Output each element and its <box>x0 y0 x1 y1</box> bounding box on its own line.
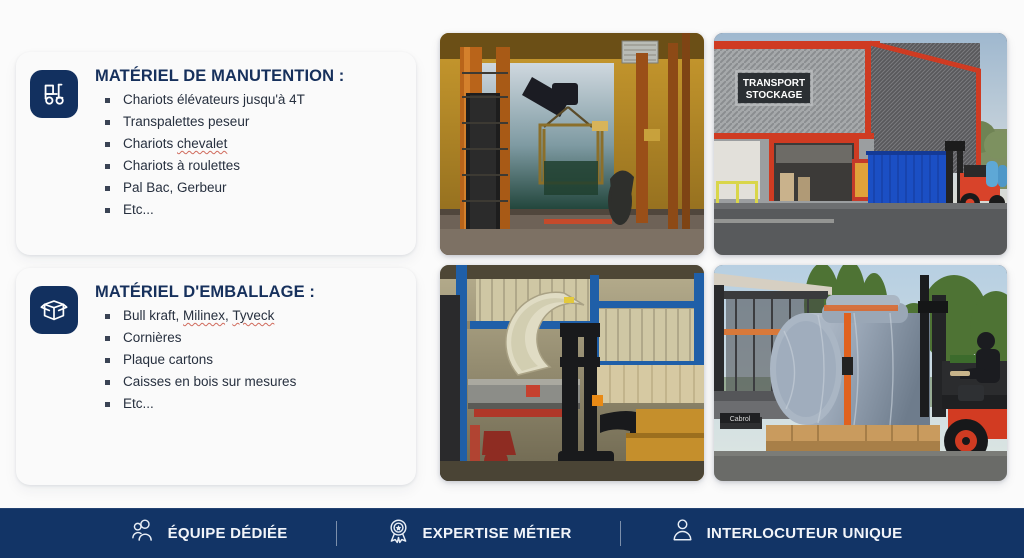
list-item: Plaque cartons <box>95 349 400 371</box>
feature-interlocuteur-unique[interactable]: INTERLOCUTEUR UNIQUE <box>669 517 903 549</box>
sign-line-1: TRANSPORT <box>743 78 805 89</box>
card-body: MATÉRIEL D'EMBALLAGE : Bull kraft, Milin… <box>95 282 400 415</box>
card-title: MATÉRIEL DE MANUTENTION : <box>95 67 400 86</box>
feature-label: EXPERTISE MÉTIER <box>423 525 572 542</box>
card-materiel-emballage: MATÉRIEL D'EMBALLAGE : Bull kraft, Milin… <box>16 268 416 485</box>
bar-divider <box>620 521 621 546</box>
award-medal-icon <box>385 517 412 549</box>
team-people-icon <box>130 517 157 549</box>
list-item: Pal Bac, Gerbeur <box>95 177 400 199</box>
open-box-icon <box>30 286 78 334</box>
list-item: Chariots chevalet <box>95 133 400 155</box>
list-item: Etc... <box>95 199 400 221</box>
bar-divider <box>336 521 337 546</box>
list-item: Etc... <box>95 393 400 415</box>
photo-entrepot-rayonnage <box>440 265 704 481</box>
feature-label: ÉQUIPE DÉDIÉE <box>168 525 288 542</box>
single-person-icon <box>669 517 696 549</box>
sign-line-2: STOCKAGE <box>746 90 803 101</box>
photo-manutention-vitrage <box>440 33 704 255</box>
list-item: Cornières <box>95 327 400 349</box>
list-item: Bull kraft, Milinex, Tyveck <box>95 305 400 327</box>
feature-label: INTERLOCUTEUR UNIQUE <box>707 525 903 542</box>
list-item: Transpalettes peseur <box>95 111 400 133</box>
svg-text:Cabrol: Cabrol <box>730 416 751 423</box>
bullet-list: Bull kraft, Milinex, Tyveck Cornières Pl… <box>95 305 400 415</box>
card-materiel-manutention: MATÉRIEL DE MANUTENTION : Chariots éléva… <box>16 52 416 255</box>
bullet-list: Chariots élévateurs jusqu'à 4T Transpale… <box>95 89 400 221</box>
list-item: Caisses en bois sur mesures <box>95 371 400 393</box>
card-inner: MATÉRIEL D'EMBALLAGE : Bull kraft, Milin… <box>16 268 416 415</box>
forklift-icon <box>30 70 78 118</box>
card-inner: MATÉRIEL DE MANUTENTION : Chariots éléva… <box>16 52 416 221</box>
bottom-feature-bar: ÉQUIPE DÉDIÉE EXPERTISE MÉTIER <box>0 508 1024 558</box>
photo-entrepot-transport-stockage: TRANSPORT STOCKAGE <box>714 33 1007 255</box>
list-item: Chariots à roulettes <box>95 155 400 177</box>
feature-equipe-dediee[interactable]: ÉQUIPE DÉDIÉE <box>130 517 288 549</box>
photo-chargement-cuve: Cabrol <box>714 265 1007 481</box>
card-body: MATÉRIEL DE MANUTENTION : Chariots éléva… <box>95 66 400 221</box>
card-title: MATÉRIEL D'EMBALLAGE : <box>95 283 400 302</box>
slide-root: MATÉRIEL DE MANUTENTION : Chariots éléva… <box>0 0 1024 558</box>
photo-grid: TRANSPORT STOCKAGE <box>437 30 1010 485</box>
list-item: Chariots élévateurs jusqu'à 4T <box>95 89 400 111</box>
feature-expertise-metier[interactable]: EXPERTISE MÉTIER <box>385 517 572 549</box>
